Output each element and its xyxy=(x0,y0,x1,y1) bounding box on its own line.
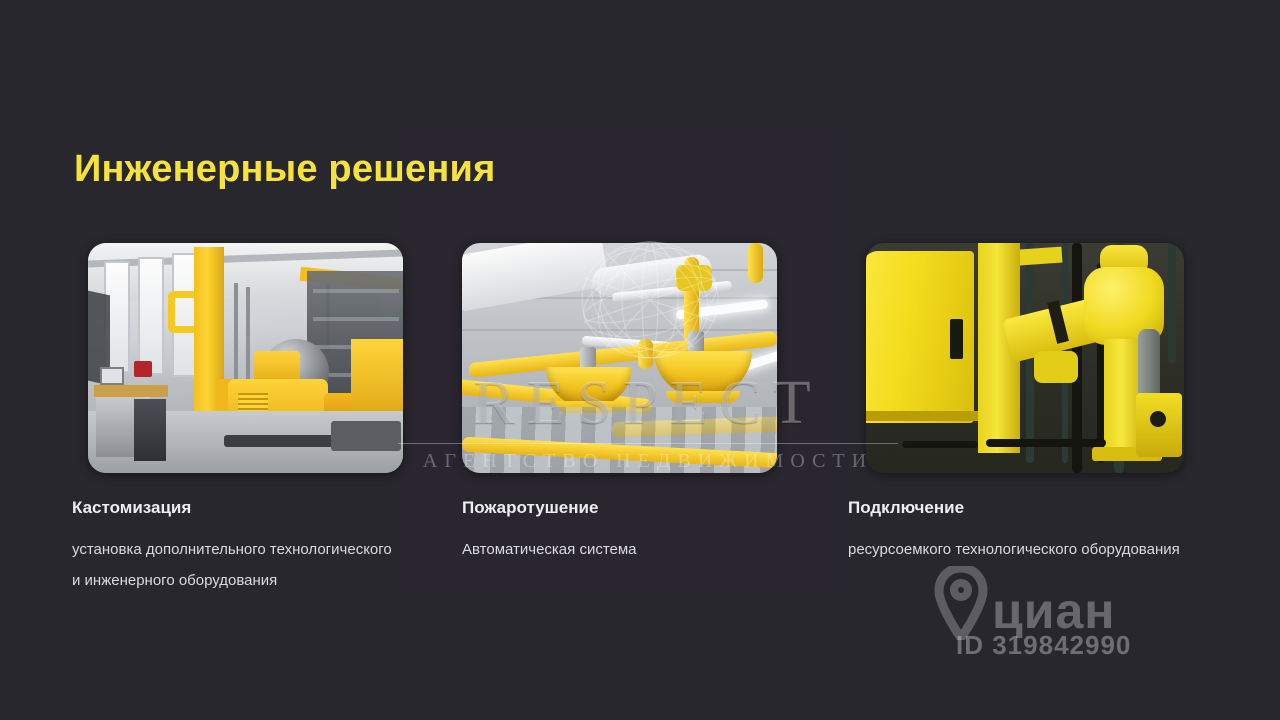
image-card-fire-suppression[interactable] xyxy=(462,243,777,473)
caption-body: Автоматическая система xyxy=(462,534,802,565)
image-card-customization[interactable] xyxy=(88,243,403,473)
caption-fire-suppression: Пожаротушение Автоматическая система xyxy=(462,498,802,565)
image-card-group xyxy=(0,0,1280,720)
caption-body: ресурсоемкого технологического оборудова… xyxy=(848,534,1208,565)
caption-title: Кастомизация xyxy=(72,498,402,518)
image-card-connection[interactable] xyxy=(866,243,1184,473)
caption-customization: Кастомизация установка дополнительного т… xyxy=(72,498,402,596)
caption-connection: Подключение ресурсоемкого технологическо… xyxy=(848,498,1208,565)
presentation-slide: Инженерные решения xyxy=(0,0,1280,720)
fire-sprinkler-photo xyxy=(462,243,777,473)
caption-title: Пожаротушение xyxy=(462,498,802,518)
industrial-workshop-photo xyxy=(88,243,403,473)
caption-title: Подключение xyxy=(848,498,1208,518)
yellow-equipment-photo xyxy=(866,243,1184,473)
caption-body: установка дополнительного технологическо… xyxy=(72,534,402,596)
